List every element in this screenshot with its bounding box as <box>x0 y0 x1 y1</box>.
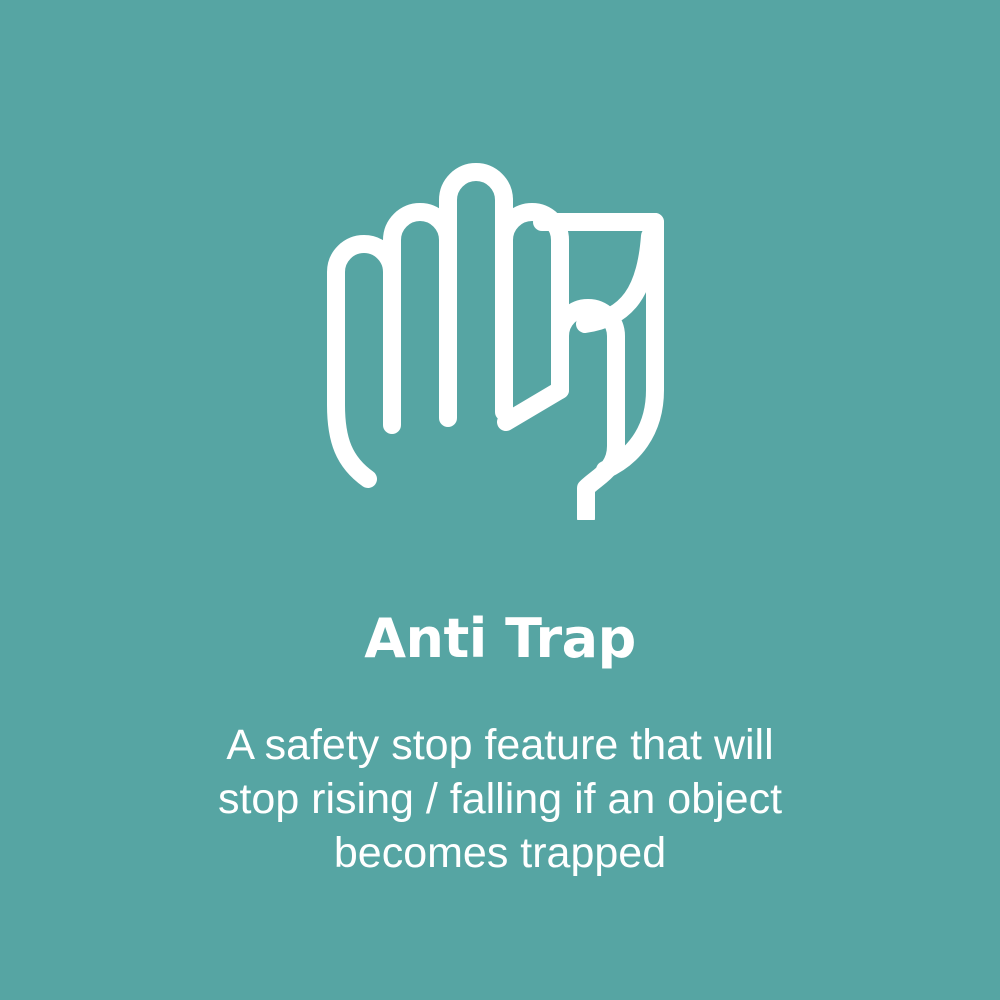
feature-text-block: Anti Trap A safety stop feature that wil… <box>0 612 1000 880</box>
anti-trap-feature-card: Anti Trap A safety stop feature that wil… <box>0 0 1000 1000</box>
description-line: stop rising / falling if an object <box>120 772 880 826</box>
feature-description: A safety stop feature that will stop ris… <box>120 718 880 880</box>
page-title: Anti Trap <box>0 612 1000 666</box>
anti-trap-hand-icon <box>310 140 690 520</box>
hand-outer-right-stroke <box>560 308 616 518</box>
description-line: A safety stop feature that will <box>120 718 880 772</box>
hand-thumb-stroke <box>336 330 368 479</box>
description-line: becomes trapped <box>120 826 880 880</box>
feature-icon-container <box>0 140 1000 520</box>
